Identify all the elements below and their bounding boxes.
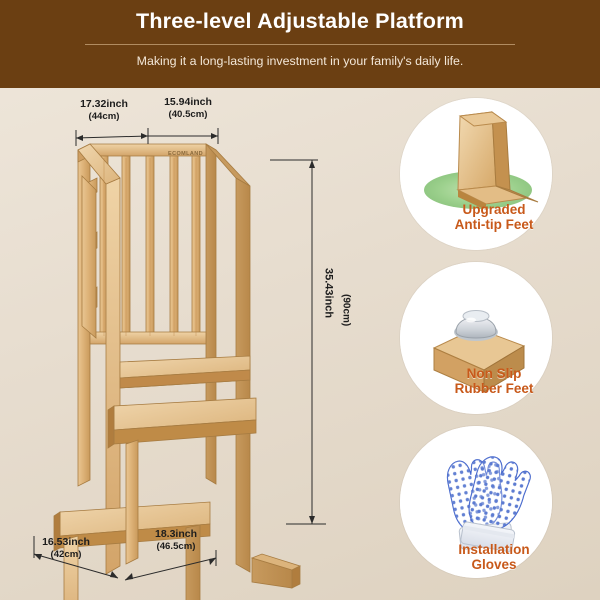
header-banner: Three-level Adjustable Platform Making i…	[0, 0, 600, 88]
dimension-top-right-width-inch: 15.94inch	[164, 96, 212, 108]
feature-list: Upgraded Anti-tip Feet	[394, 96, 600, 596]
feature-anti-tip-feet: Upgraded Anti-tip Feet	[400, 98, 592, 250]
feature-rubber-feet-line2: Rubber Feet	[455, 381, 534, 396]
dimension-bottom-left-depth: 16.53inch (42cm)	[18, 536, 114, 560]
dimension-top-right-width: 15.94inch (40.5cm)	[142, 96, 234, 120]
dimension-bottom-left-depth-metric: (42cm)	[51, 549, 82, 560]
dimension-bottom-right-depth-inch: 18.3inch	[155, 528, 197, 540]
feature-rubber-feet: Non Slip Rubber Feet	[400, 262, 592, 414]
feature-rubber-feet-line1: Non Slip	[467, 366, 522, 381]
feature-installation-gloves: Installation Gloves	[400, 426, 592, 578]
dimension-height-metric: (90cm)	[341, 294, 352, 326]
feature-anti-tip-feet-line1: Upgraded	[462, 202, 525, 217]
product-infographic: Three-level Adjustable Platform Making i…	[0, 0, 600, 600]
dimension-top-left-width: 17.32inch (44cm)	[62, 98, 146, 122]
dimension-top-left-width-metric: (44cm)	[89, 111, 120, 122]
dimension-bottom-right-depth-metric: (46.5cm)	[157, 541, 196, 552]
feature-installation-gloves-caption: Installation Gloves	[396, 542, 592, 572]
brand-label: ECOMLAND	[168, 151, 203, 157]
dimension-top-right-width-metric: (40.5cm)	[169, 109, 208, 120]
dimension-bottom-right-depth: 18.3inch (46.5cm)	[128, 528, 224, 552]
dimension-bottom-left-depth-inch: 16.53inch	[42, 536, 90, 548]
tower-illustration	[0, 88, 390, 600]
header-divider	[85, 44, 515, 45]
feature-anti-tip-feet-line2: Anti-tip Feet	[455, 217, 534, 232]
page-title: Three-level Adjustable Platform	[136, 10, 464, 34]
feature-installation-gloves-line2: Gloves	[471, 557, 516, 572]
product-diagram: ECOMLAND 17.32inch (44cm) 15.94inch (40.…	[0, 88, 390, 600]
header-subtitle: Making it a long-lasting investment in y…	[137, 54, 464, 68]
dimension-top-left-width-inch: 17.32inch	[80, 98, 128, 110]
feature-installation-gloves-line1: Installation	[458, 542, 529, 557]
dimension-height-inch: 35.43inch	[323, 268, 335, 318]
dimension-height-metric-wrap: (90cm)	[340, 294, 352, 326]
dimension-height: 35.43inch	[322, 268, 335, 318]
feature-anti-tip-feet-caption: Upgraded Anti-tip Feet	[396, 202, 592, 232]
feature-rubber-feet-caption: Non Slip Rubber Feet	[396, 366, 592, 396]
